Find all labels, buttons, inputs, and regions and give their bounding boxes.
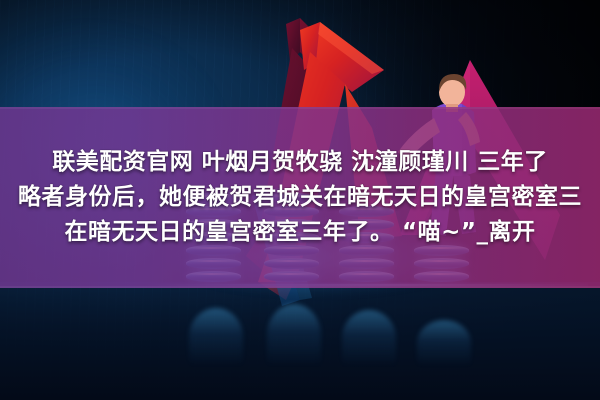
coin-reflection-1 xyxy=(189,308,243,366)
banner-image: 联美配资官网 叶烟月贺牧骁 沈潼顾瑾川 三年了 略者身份后，她便被贺君城关在暗无… xyxy=(0,0,600,400)
caption-line-3: 在暗无天日的皇宫密室三年了。 “喵~”_离开 xyxy=(64,219,535,246)
coin-reflection-3 xyxy=(342,310,396,366)
coin-reflection-4 xyxy=(417,320,471,366)
caption-line-1: 联美配资官网 叶烟月贺牧骁 沈潼顾瑾川 三年了 xyxy=(52,149,548,176)
coin-reflection-2 xyxy=(267,304,321,366)
caption-text-block: 联美配资官网 叶烟月贺牧骁 沈潼顾瑾川 三年了 略者身份后，她便被贺君城关在暗无… xyxy=(0,107,600,288)
caption-line-2: 略者身份后，她便被贺君城关在暗无天日的皇宫密室三 xyxy=(18,184,582,211)
